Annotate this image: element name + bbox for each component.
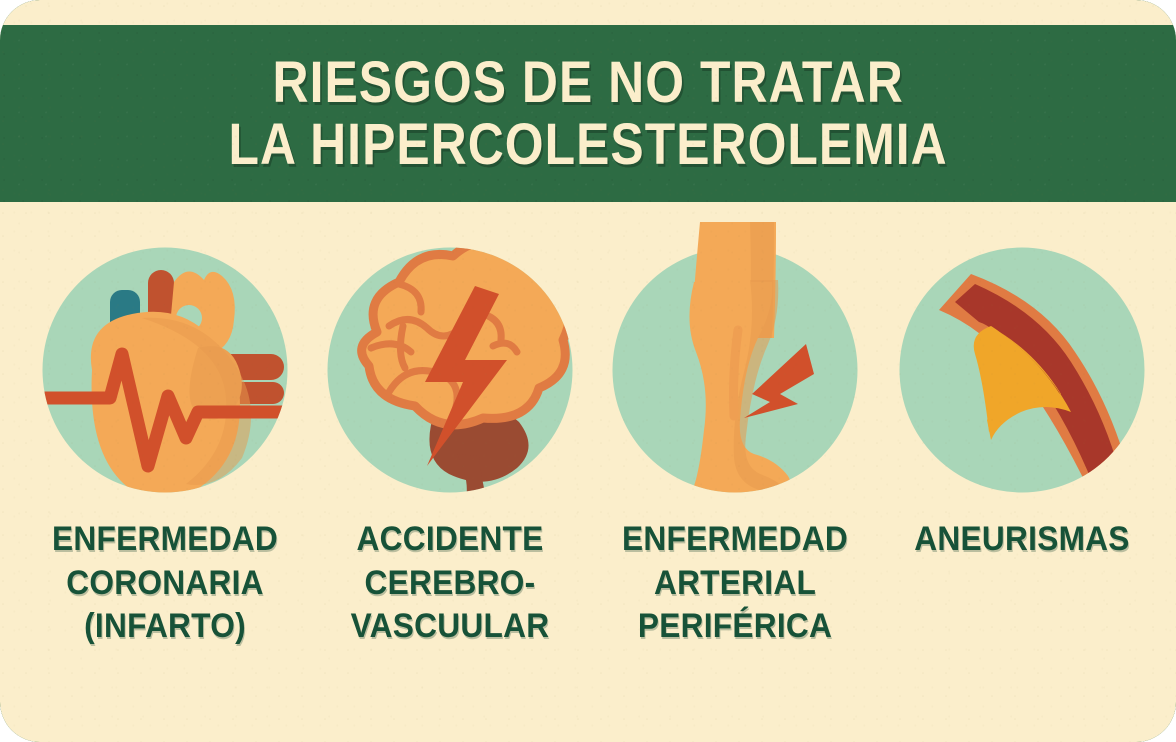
label-cell-coronary-disease: ENFERMEDAD CORONARIA (INFARTO) [22, 518, 308, 649]
labels-row: ENFERMEDAD CORONARIA (INFARTO) ACCIDENTE… [0, 518, 1176, 678]
anatomical-heart-with-ecg-icon [22, 222, 308, 522]
item-label: ENFERMEDAD CORONARIA (INFARTO) [32, 518, 298, 649]
icon-cell-aneurysms [879, 232, 1165, 522]
item-label: ACCIDENTE CEREBRO- VASCUULAR [317, 518, 583, 649]
icon-cell-stroke [307, 232, 593, 522]
icon-cell-peripheral-arterial-disease [592, 232, 878, 522]
header-banner: RIESGOS DE NO TRATAR LA HIPERCOLESTEROLE… [0, 25, 1176, 202]
infographic-card: RIESGOS DE NO TRATAR LA HIPERCOLESTEROLE… [0, 0, 1176, 742]
label-cell-stroke: ACCIDENTE CEREBRO- VASCUULAR [307, 518, 593, 649]
artery-cross-section-icon [879, 222, 1165, 522]
label-cell-aneurysms: ANEURISMAS [879, 518, 1165, 562]
icon-cell-coronary-disease [22, 232, 308, 522]
brain-with-lightning-bolt-icon [307, 222, 593, 522]
icons-row [0, 232, 1176, 522]
label-cell-peripheral-arterial-disease: ENFERMEDAD ARTERIAL PERIFÉRICA [592, 518, 878, 649]
item-label: ANEURISMAS [889, 518, 1155, 562]
leg-with-lightning-bolt-icon [592, 222, 878, 522]
card-surface: RIESGOS DE NO TRATAR LA HIPERCOLESTEROLE… [0, 0, 1176, 742]
page-title: RIESGOS DE NO TRATAR LA HIPERCOLESTEROLE… [228, 52, 947, 175]
item-label: ENFERMEDAD ARTERIAL PERIFÉRICA [602, 518, 868, 649]
